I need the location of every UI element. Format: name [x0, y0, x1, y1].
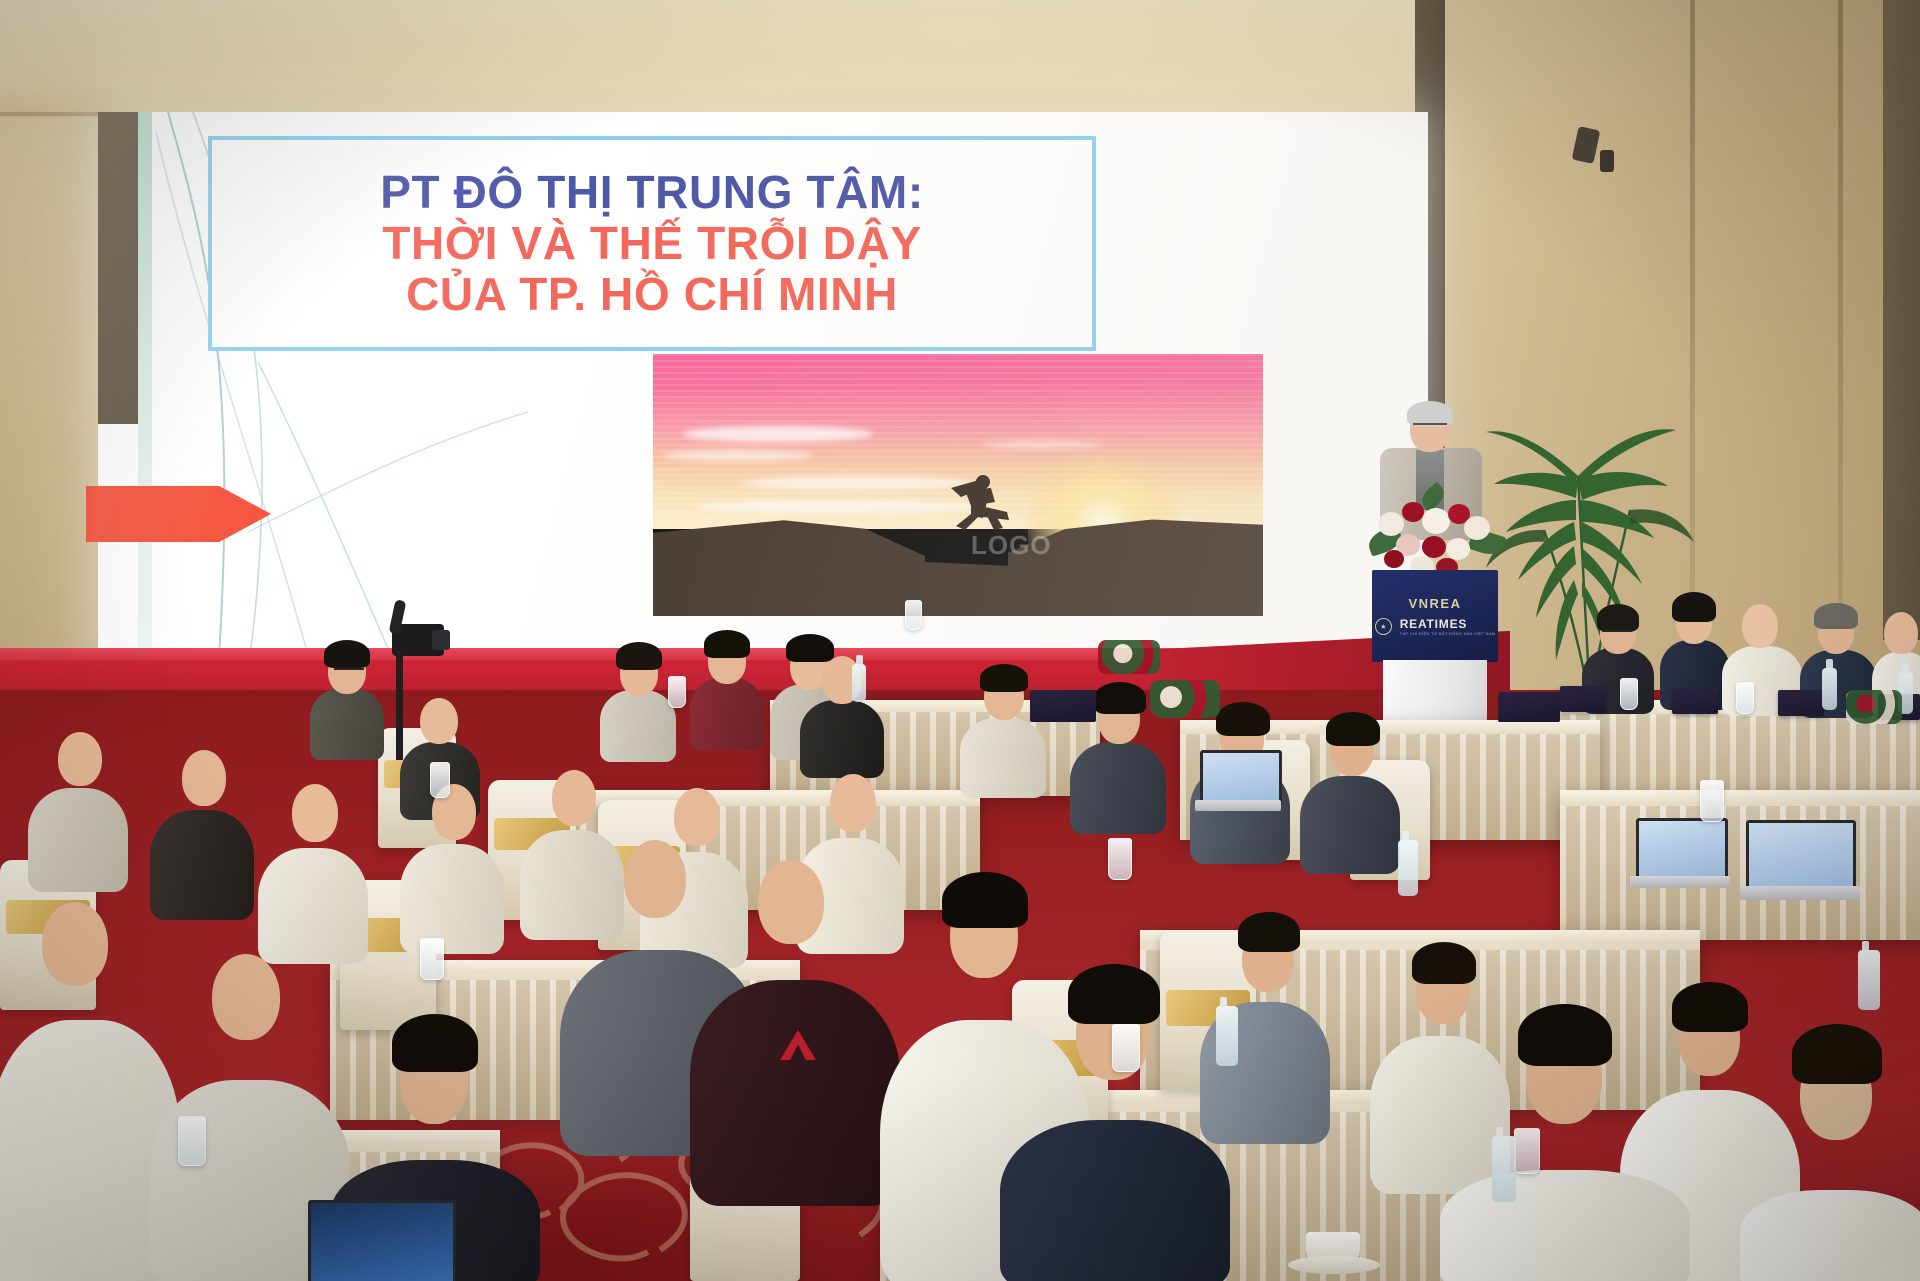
delegate-name-card	[1778, 690, 1824, 716]
hair	[1238, 912, 1300, 952]
torso	[1440, 1170, 1690, 1281]
table-flower-arrangement	[1846, 690, 1902, 724]
delegate-name-card	[1672, 688, 1718, 714]
torso	[960, 718, 1046, 798]
slide-title-line-3: CỦA TP. HỒ CHÍ MINH	[406, 270, 898, 319]
flower-white	[1464, 516, 1490, 540]
podium-signage-panel: VNREA ★ REATIMES TẠP CHÍ ĐIỆN TỬ BẤT ĐỘN…	[1372, 570, 1498, 662]
audience-person-foreground	[1000, 960, 1230, 1281]
glasses-icon	[334, 668, 364, 676]
water-bottle	[1492, 1136, 1516, 1202]
hair	[392, 1014, 478, 1072]
flower-red	[1402, 502, 1424, 522]
water-glass	[905, 600, 922, 630]
hair	[1814, 603, 1858, 629]
audience-person	[1300, 710, 1400, 870]
flower-white	[1422, 508, 1450, 534]
hair	[1672, 592, 1716, 622]
hair	[1216, 702, 1270, 736]
head	[292, 784, 338, 842]
slide-photo-jumper: LOGO	[653, 354, 1263, 616]
photo-watermark: LOGO	[971, 530, 1052, 561]
torso	[1070, 742, 1166, 834]
glasses-icon	[1602, 630, 1632, 638]
slide-title-line-1: PT ĐÔ THỊ TRUNG TÂM:	[380, 168, 924, 217]
water-glass	[1620, 678, 1638, 710]
head	[830, 774, 876, 832]
head	[420, 698, 458, 744]
hair	[704, 630, 750, 658]
hair	[942, 872, 1028, 928]
hair	[1412, 942, 1476, 984]
head	[1742, 604, 1778, 648]
hair	[1094, 682, 1146, 714]
water-glass	[420, 938, 444, 980]
water-bottle	[1858, 950, 1880, 1010]
slide-title-line-2: THỜI VÀ THẾ TRỖI DẬY	[382, 219, 921, 268]
wall-seam	[1838, 0, 1843, 660]
flower-red	[1422, 536, 1446, 558]
audience-person	[600, 640, 676, 760]
head	[182, 750, 226, 806]
head	[212, 954, 280, 1040]
delegate-name-card	[1030, 690, 1096, 722]
water-glass	[1112, 1024, 1140, 1072]
torso	[1300, 776, 1400, 874]
ceiling-spotlight-icon	[1600, 150, 1614, 172]
open-laptop[interactable]	[1195, 750, 1281, 822]
water-bottle	[1216, 1006, 1238, 1066]
conference-photo-scene: PT ĐÔ THỊ TRUNG TÂM: THỜI VÀ THẾ TRỖI DẬ…	[0, 0, 1920, 1281]
torso	[600, 690, 676, 762]
water-glass	[1514, 1128, 1540, 1174]
laptop-keyboard[interactable]	[1630, 876, 1730, 888]
hair	[1068, 964, 1160, 1024]
head	[624, 840, 686, 918]
delegate-name-card	[1560, 686, 1606, 712]
projection-screen: PT ĐÔ THỊ TRUNG TÂM: THỜI VÀ THẾ TRỖI DẬ…	[98, 112, 1428, 672]
saucer	[1288, 1256, 1380, 1274]
water-glass	[1700, 780, 1724, 822]
table-flower-arrangement	[1098, 640, 1160, 674]
head	[552, 770, 596, 826]
slide-title-box: PT ĐÔ THỊ TRUNG TÂM: THỜI VÀ THẾ TRỖI DẬ…	[208, 136, 1096, 351]
red-arrow-graphic	[86, 486, 271, 542]
open-laptop[interactable]	[1630, 818, 1730, 902]
torso	[400, 844, 504, 954]
head	[758, 860, 824, 944]
audience-person	[400, 770, 504, 950]
audience-person	[800, 644, 884, 774]
flower-white	[1378, 512, 1404, 536]
reatimes-logo: REATIMES	[1400, 617, 1468, 631]
hair	[324, 640, 370, 668]
open-laptop[interactable]	[300, 1200, 460, 1281]
audience-person-foreground	[1740, 1020, 1920, 1281]
table-flower-arrangement	[1150, 680, 1220, 718]
hair	[616, 642, 662, 670]
seal-icon: ★	[1375, 618, 1392, 635]
laptop-screen	[1200, 750, 1282, 806]
audience-person	[960, 660, 1046, 792]
flower-white	[1446, 538, 1470, 560]
audience-person	[690, 628, 764, 748]
delegate-name-card	[1498, 692, 1560, 722]
podium-flower-arrangement	[1366, 484, 1506, 580]
torso	[690, 678, 764, 750]
head	[1884, 612, 1918, 654]
torso	[690, 980, 900, 1206]
photo-jumper-silhouette	[921, 472, 1013, 534]
hair	[1518, 1004, 1612, 1066]
laptop-screen	[1746, 820, 1856, 892]
water-glass	[1108, 838, 1132, 880]
audience-person	[28, 718, 128, 888]
glasses-icon	[1413, 423, 1447, 433]
water-bottle	[1822, 668, 1837, 710]
water-glass	[668, 676, 686, 708]
hair	[1597, 604, 1639, 632]
hair	[980, 664, 1028, 692]
laptop-keyboard[interactable]	[1740, 886, 1860, 900]
water-bottle	[1398, 840, 1418, 896]
laptop-screen	[1636, 818, 1728, 882]
laptop-screen	[308, 1200, 456, 1281]
torso	[1000, 1120, 1230, 1281]
podium-secondary-logo-row: ★ REATIMES TẠP CHÍ ĐIỆN TỬ BẤT ĐỘNG SẢN …	[1375, 617, 1496, 636]
water-glass	[178, 1116, 206, 1166]
audience-person-foreground	[1440, 1000, 1690, 1281]
hair	[1792, 1024, 1882, 1084]
water-glass	[1736, 682, 1754, 714]
water-bottle	[852, 664, 866, 702]
head	[42, 902, 108, 986]
laptop-keyboard[interactable]	[1195, 800, 1281, 811]
reatimes-tagline: TẠP CHÍ ĐIỆN TỬ BẤT ĐỘNG SẢN VIỆT NAM	[1400, 631, 1496, 636]
head	[58, 732, 102, 786]
open-laptop[interactable]	[1740, 820, 1860, 912]
torso	[1740, 1190, 1920, 1281]
vnrea-logo: VNREA	[1408, 596, 1461, 611]
torso	[28, 788, 128, 892]
camera-lens-icon	[432, 630, 450, 650]
audience-person-foreground	[690, 840, 900, 1200]
screen-left-mint-band	[138, 112, 152, 672]
screen-left-dark-band	[98, 112, 138, 424]
flower-red	[1384, 550, 1404, 568]
hair	[1326, 712, 1380, 746]
wall-column	[1883, 0, 1920, 640]
water-glass	[430, 762, 450, 798]
